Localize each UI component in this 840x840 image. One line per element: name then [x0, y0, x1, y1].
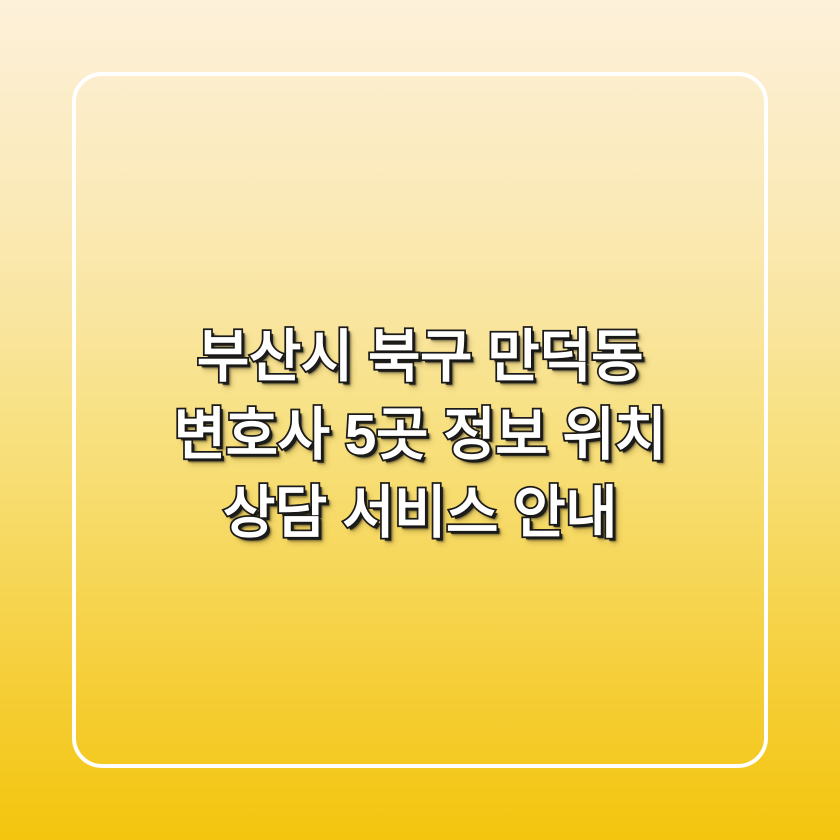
headline-line-2: 변호사 5곳 정보 위치 — [86, 396, 754, 474]
poster-canvas: 부산시 북구 만덕동 변호사 5곳 정보 위치 상담 서비스 안내 — [0, 0, 840, 840]
headline-line-1: 부산시 북구 만덕동 — [86, 318, 754, 396]
headline-line-3: 상담 서비스 안내 — [86, 474, 754, 552]
headline-block: 부산시 북구 만덕동 변호사 5곳 정보 위치 상담 서비스 안내 — [0, 318, 840, 552]
